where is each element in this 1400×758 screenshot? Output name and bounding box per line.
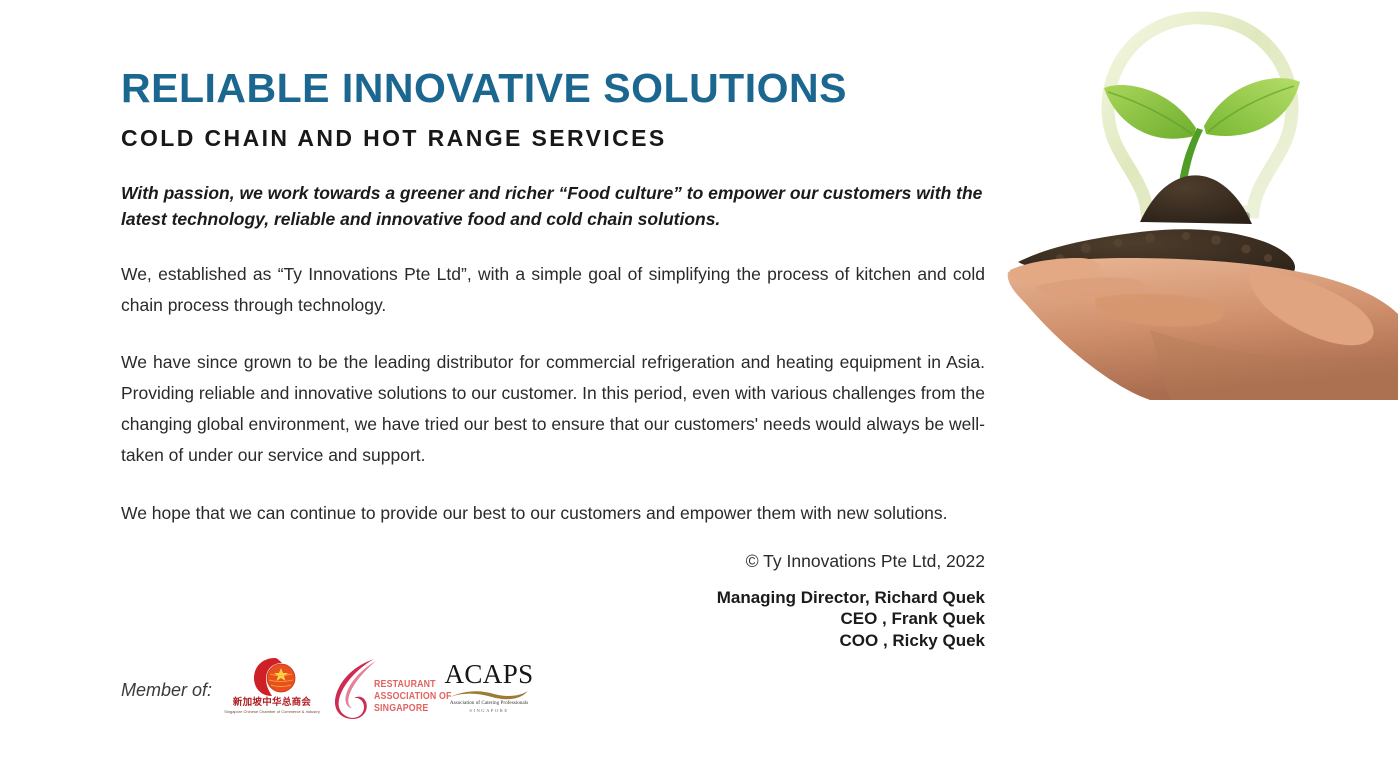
- ras-line-3: SINGAPORE: [374, 703, 452, 715]
- acaps-swoosh-icon: [450, 689, 528, 700]
- member-of-label: Member of:: [121, 680, 212, 701]
- hero-image: [1000, 0, 1400, 400]
- logo-acaps: ACAPS Association of Catering Profession…: [444, 659, 534, 721]
- ras-wordmark: RESTAURANT ASSOCIATION OF SINGAPORE: [374, 679, 452, 716]
- poster-page: RELIABLE INNOVATIVE SOLUTIONS COLD CHAIN…: [0, 0, 1400, 758]
- membership-strip: Member of: 新加坡中华总商会 Singapore Chinese Ch…: [121, 655, 541, 725]
- paragraph-1: We, established as “Ty Innovations Pte L…: [121, 233, 985, 321]
- acaps-subtitle: Association of Catering Professionals: [444, 700, 534, 706]
- acaps-wordmark: ACAPS: [444, 661, 534, 688]
- page-subtitle: COLD CHAIN AND HOT RANGE SERVICES: [121, 112, 985, 153]
- sccci-english-name: Singapore Chinese Chamber of Commerce & …: [224, 710, 320, 715]
- copyright-line: © Ty Innovations Pte Ltd, 2022: [121, 529, 985, 575]
- ras-swoosh-icon: [330, 657, 380, 721]
- signature-line: Managing Director, Richard Quek: [121, 587, 985, 609]
- paragraph-2: We have since grown to be the leading di…: [121, 321, 985, 472]
- page-title: RELIABLE INNOVATIVE SOLUTIONS: [121, 0, 985, 112]
- intro-paragraph: With passion, we work towards a greener …: [121, 153, 985, 233]
- paragraph-3: We hope that we can continue to provide …: [121, 472, 985, 529]
- ras-line-2: ASSOCIATION OF: [374, 691, 452, 703]
- signature-line: COO , Ricky Quek: [121, 630, 985, 652]
- sccci-mark-icon: [252, 656, 298, 698]
- acaps-city: SINGAPORE: [444, 708, 534, 714]
- signature-line: CEO , Frank Quek: [121, 608, 985, 630]
- signature-block: Managing Director, Richard Quek CEO , Fr…: [121, 575, 985, 652]
- logo-restaurant-association: RESTAURANT ASSOCIATION OF SINGAPORE: [330, 655, 434, 725]
- sccci-chinese-name: 新加坡中华总商会: [224, 698, 320, 708]
- ras-line-1: RESTAURANT: [374, 679, 452, 691]
- logo-sccci: 新加坡中华总商会 Singapore Chinese Chamber of Co…: [224, 656, 320, 724]
- content-column: RELIABLE INNOVATIVE SOLUTIONS COLD CHAIN…: [121, 0, 985, 651]
